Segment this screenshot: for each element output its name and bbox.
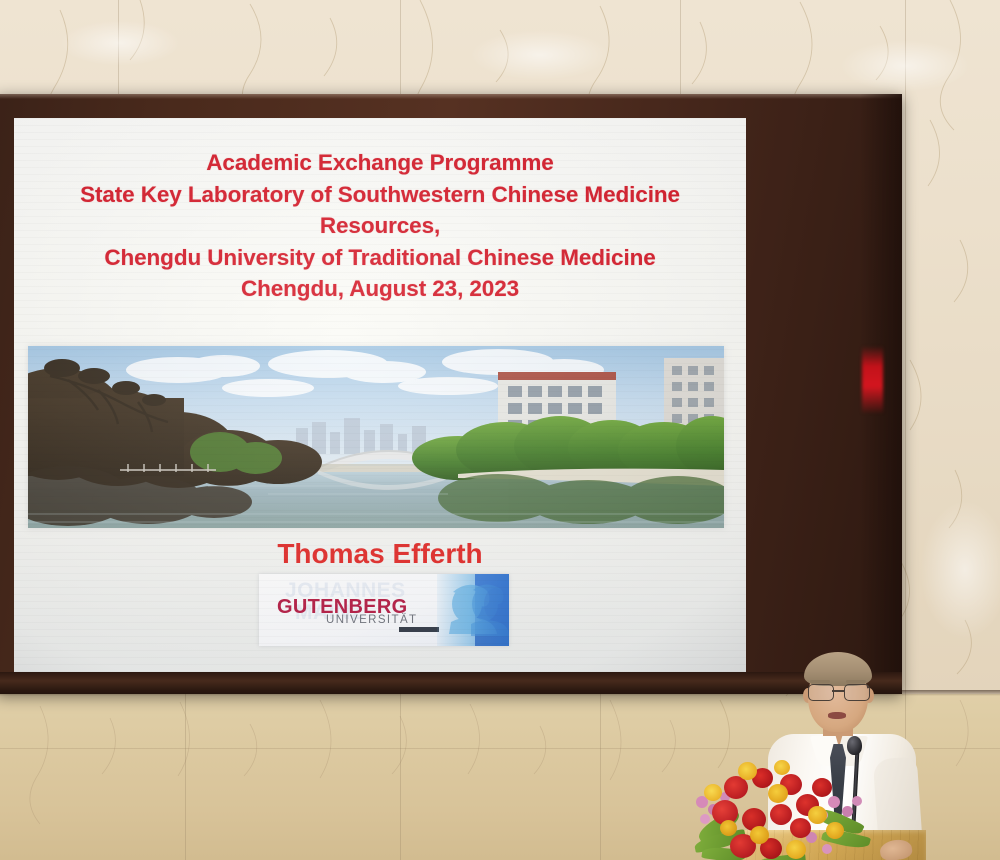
glasses-bridge [832, 690, 844, 692]
lens-right [844, 684, 870, 701]
eyebrow-right [846, 680, 866, 683]
slide-title-line-2: State Key Laboratory of Southwestern Chi… [14, 179, 746, 211]
frame-red-reflection [862, 346, 883, 413]
frame-top-bevel [0, 94, 902, 99]
logo-dash-mark [399, 627, 439, 632]
lens-left [808, 684, 834, 701]
conference-hall-scene: Academic Exchange Programme State Key La… [0, 0, 1000, 860]
slide-title: Academic Exchange Programme State Key La… [14, 147, 746, 305]
university-logo: JOHANNES MAINZ GUTENBERG UNIVERSITÄT [259, 574, 509, 646]
eyebrow-left [810, 680, 830, 683]
portrait-blue-wash [437, 574, 509, 646]
presenter-name: Thomas Efferth [14, 538, 746, 570]
slide-title-line-5: Chengdu, August 23, 2023 [14, 273, 746, 305]
eyeglasses-icon [808, 684, 868, 699]
flower-arrangement [694, 748, 874, 860]
campus-panorama-photo [28, 346, 724, 528]
gutenberg-portrait [437, 574, 509, 646]
slide-title-line-3: Resources, [14, 210, 746, 242]
speaker-mouth [828, 712, 846, 719]
slide-title-line-1: Academic Exchange Programme [14, 147, 746, 179]
slide-title-line-4: Chengdu University of Traditional Chines… [14, 242, 746, 274]
speaker-at-podium [690, 640, 1000, 860]
projected-slide[interactable]: Academic Exchange Programme State Key La… [14, 118, 746, 672]
logo-subtitle: UNIVERSITÄT [326, 614, 417, 626]
